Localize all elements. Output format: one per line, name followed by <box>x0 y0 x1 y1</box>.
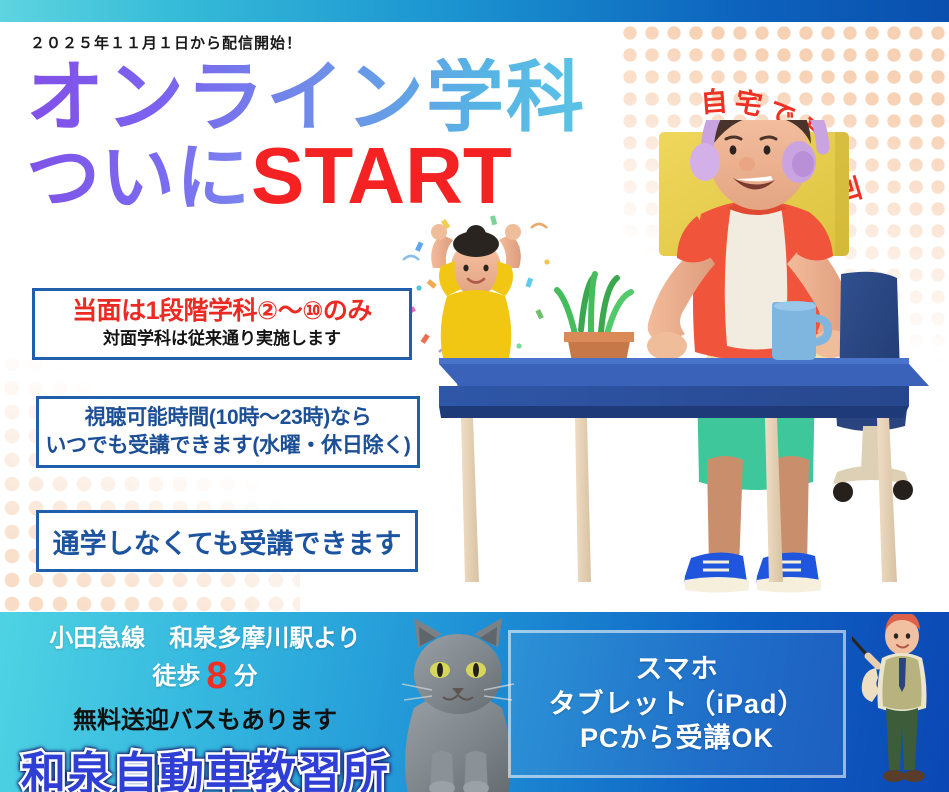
top-gradient-strip <box>0 0 949 22</box>
poster-root: ２０２５年１１月１日から配信開始！ オンライン学科 ついにSTART 自宅で受講… <box>0 0 949 792</box>
bottom-banner: 小田急線 和泉多摩川駅より 徒歩8分 無料送迎バスもあります 和泉自動車教習所 <box>0 612 949 792</box>
shuttle-bus-line: 無料送迎バスもあります <box>10 700 400 735</box>
info-box-1-main: 当面は1段階学科②〜⑩のみ <box>72 298 372 326</box>
dot-pattern-top-right <box>619 22 949 382</box>
info-box-2-line-2: いつでも受講できます(水曜・休日除く) <box>45 432 410 460</box>
headline-line-2: ついにSTART <box>26 134 646 218</box>
home-study-badge-text: 自宅で受講可能 <box>674 27 867 212</box>
potted-plant <box>557 274 634 372</box>
walking-time-line: 徒歩8分 <box>10 655 400 698</box>
office-chair <box>833 272 913 502</box>
info-box-1-sub: 対面学科は従来通り実施します <box>103 328 341 350</box>
headline-start-word: START <box>251 131 512 220</box>
walk-label: 徒歩 <box>152 663 200 690</box>
dot-pattern-bottom-left <box>0 352 300 612</box>
headline-jp-part: ついに <box>26 136 251 219</box>
release-date-eyebrow: ２０２５年１１月１日から配信開始！ <box>30 32 302 53</box>
access-station-line: 小田急線 和泉多摩川駅より <box>10 618 400 653</box>
headphones <box>690 120 823 183</box>
info-box-no-commute: 通学しなくても受講できます <box>36 510 418 572</box>
info-box-2-line-1: 視聴可能時間(10時〜23時)なら <box>85 404 372 432</box>
info-box-3-line-1: 通学しなくても受講できます <box>53 522 402 561</box>
desk <box>439 358 929 582</box>
supported-devices-box: スマホ タブレット（iPad） PCから受講OK <box>508 630 846 778</box>
page-title: オンライン学科 ついにSTART <box>26 58 646 218</box>
instructor-figure <box>852 614 948 792</box>
desktop-monitor <box>659 132 849 366</box>
school-name: 和泉自動車教習所 <box>10 737 400 792</box>
cat-image <box>388 612 528 792</box>
access-info-block: 小田急線 和泉多摩川駅より 徒歩8分 無料送迎バスもあります 和泉自動車教習所 <box>10 618 400 792</box>
sneaker-left <box>685 552 749 592</box>
walk-minutes-value: 8 <box>206 655 227 697</box>
device-line-3: PCから受講OK <box>580 721 774 756</box>
device-line-1: スマホ <box>635 652 718 687</box>
headline-line-1: オンライン学科 <box>26 58 646 138</box>
main-person-figure <box>647 120 854 593</box>
confetti-decoration <box>403 215 550 352</box>
home-study-badge: 自宅で受講可能 <box>690 52 910 202</box>
info-box-limited-subjects: 当面は1段階学科②〜⑩のみ 対面学科は従来通り実施します <box>32 288 412 360</box>
device-line-2: タブレット（iPad） <box>548 687 805 722</box>
sneaker-right <box>757 552 821 592</box>
walk-unit: 分 <box>234 663 258 690</box>
celebrating-child-figure <box>431 224 521 403</box>
coffee-mug <box>772 301 832 360</box>
info-box-viewing-hours: 視聴可能時間(10時〜23時)なら いつでも受講できます(水曜・休日除く) <box>36 396 420 468</box>
